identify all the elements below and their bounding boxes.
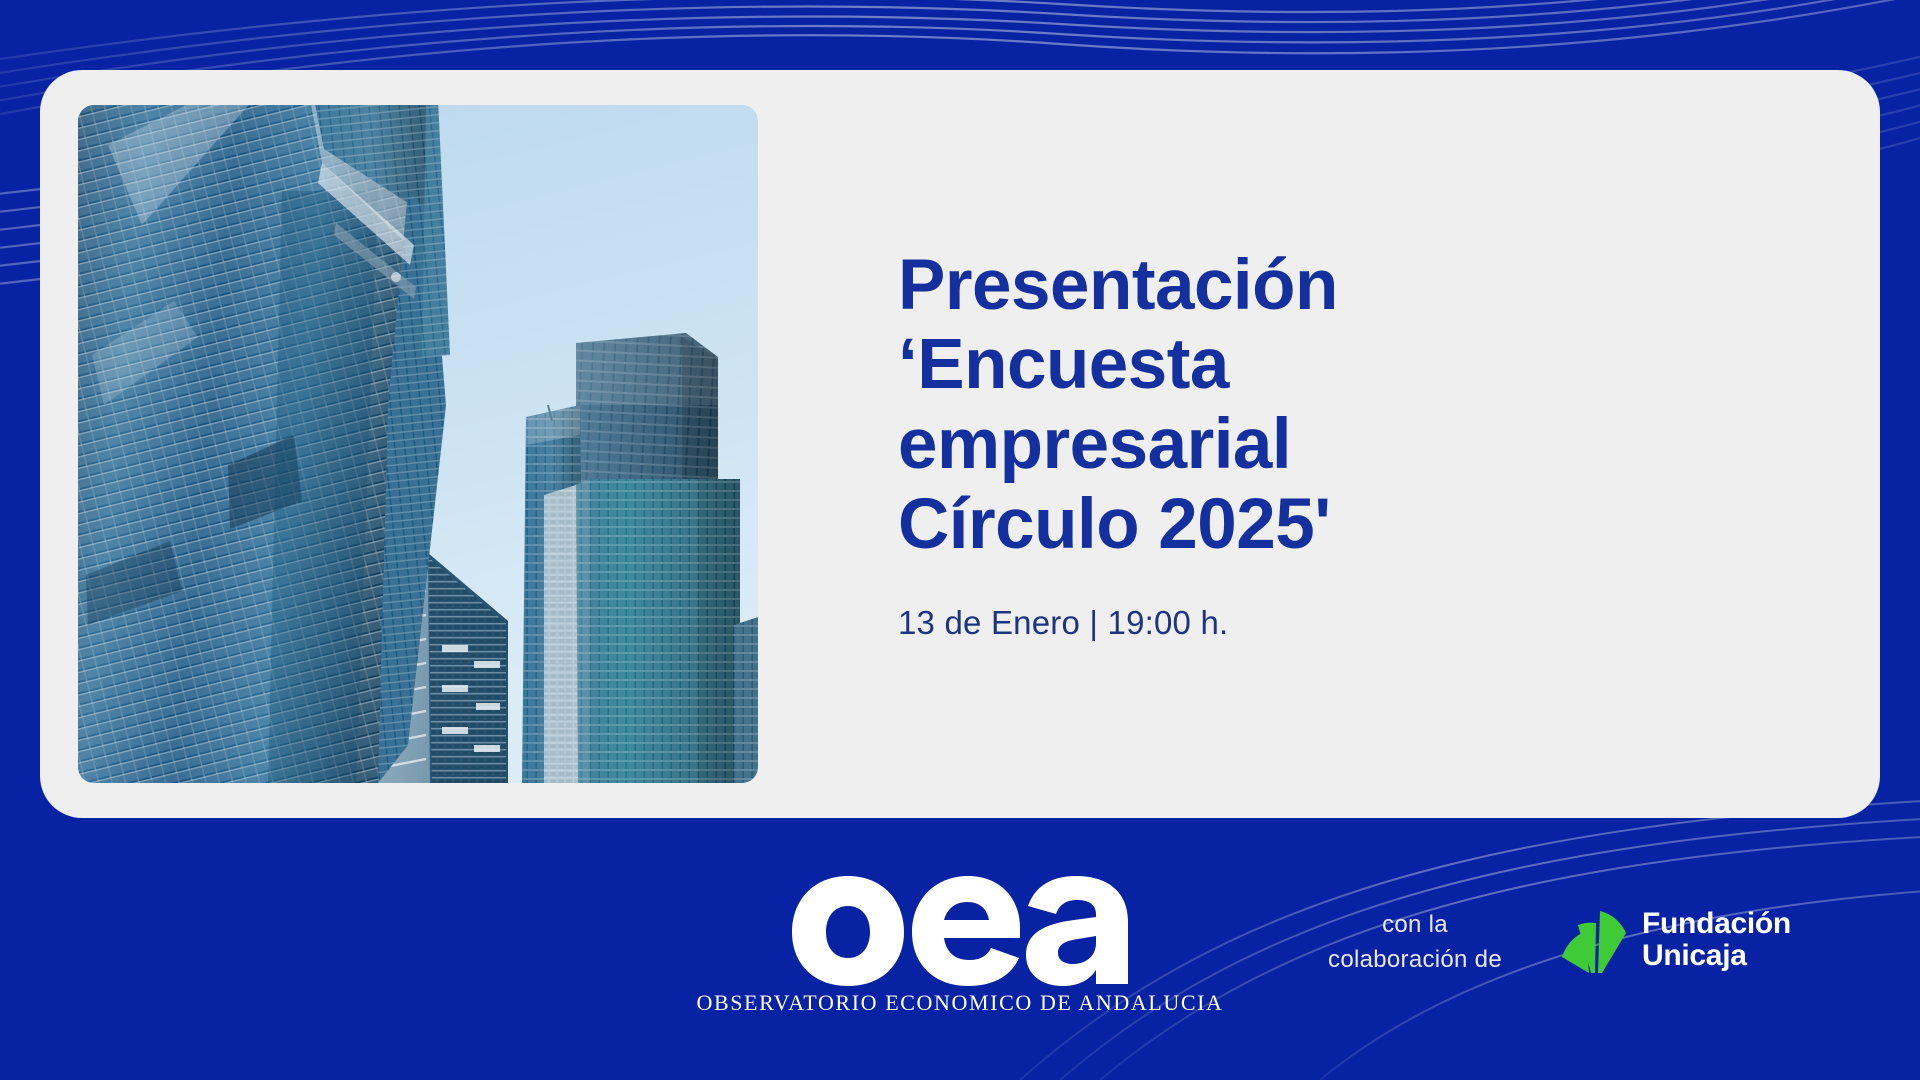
page-title: Presentación ‘Encuesta empresarial Círcu…: [898, 246, 1818, 564]
oea-wordmark-icon: [790, 870, 1130, 988]
unicaja-fan-icon: [1556, 905, 1628, 975]
event-card: Presentación ‘Encuesta empresarial Círcu…: [40, 70, 1880, 818]
skyscraper-photo: [78, 105, 758, 783]
card-text-column: Presentación ‘Encuesta empresarial Círcu…: [858, 70, 1818, 818]
oea-tagline: OBSERVATORIO ECONOMICO DE ANDALUCIA: [690, 990, 1230, 1016]
fundacion-unicaja-logo: Fundación Unicaja: [1556, 905, 1791, 975]
event-date: 13 de Enero | 19:00 h.: [898, 604, 1818, 642]
collaboration-label: con la colaboración de: [1300, 908, 1530, 978]
oea-logo: OBSERVATORIO ECONOMICO DE ANDALUCIA: [690, 870, 1230, 1016]
unicaja-wordmark: Fundación Unicaja: [1642, 908, 1791, 973]
skyscraper-illustration: [78, 105, 758, 783]
